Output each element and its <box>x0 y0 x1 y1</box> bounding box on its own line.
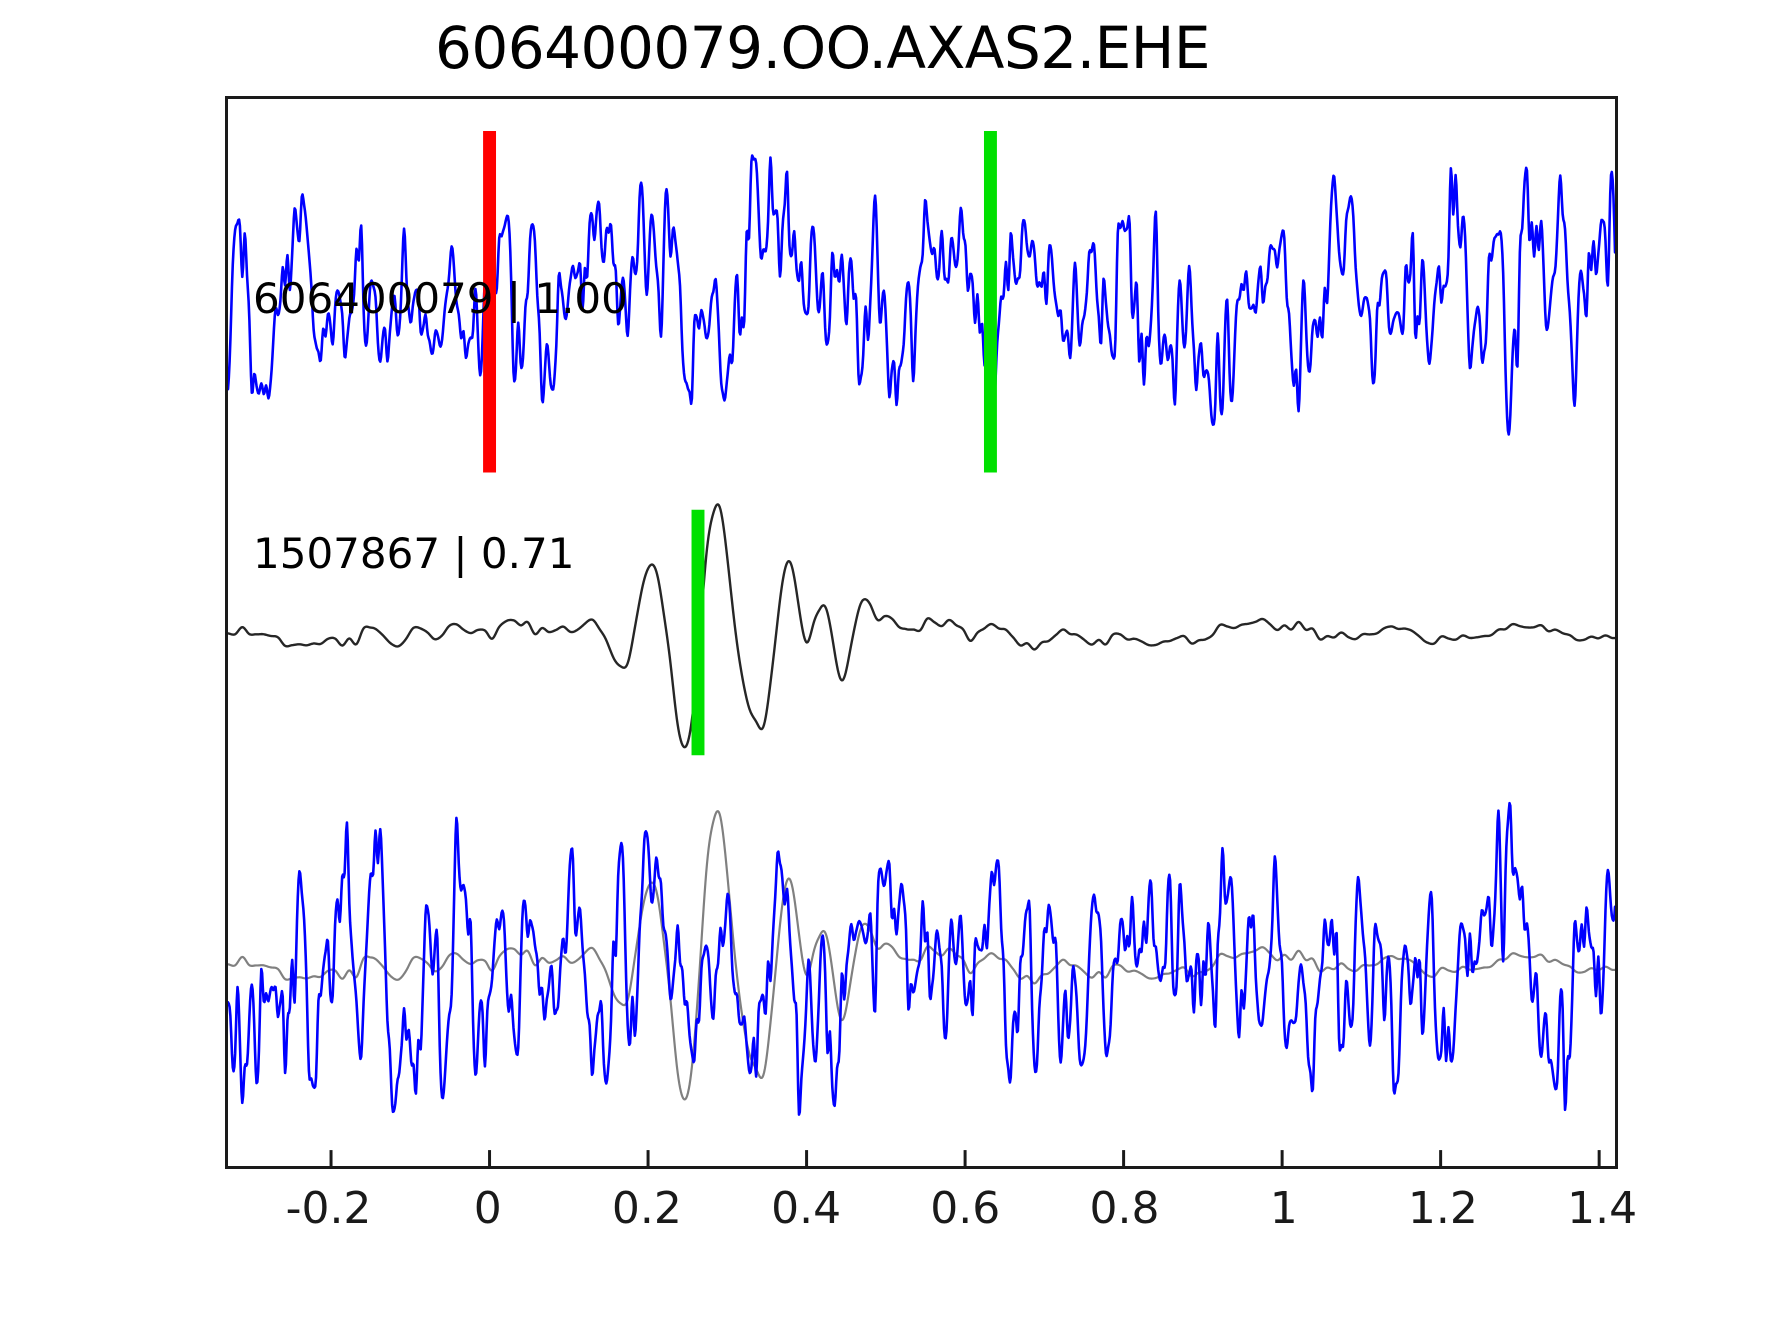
template-trace-label: 1507867 | 0.71 <box>253 529 574 578</box>
page-title: 606400079.OO.AXAS2.EHE <box>0 14 1645 82</box>
target-trace-label: 606400079 | 1.00 <box>253 274 628 323</box>
plot-area: 606400079 | 1.00 1507867 | 0.71 <box>225 96 1618 1169</box>
x-tick-label: -0.2 <box>286 1183 372 1234</box>
x-tick-label: 1.2 <box>1408 1183 1478 1234</box>
x-tick-label: 0.6 <box>930 1183 1000 1234</box>
x-axis-ticks <box>331 1150 1599 1166</box>
x-tick-label: 0.2 <box>612 1183 682 1234</box>
x-tick-label: 0.4 <box>771 1183 841 1234</box>
x-tick-label: 1.4 <box>1567 1183 1637 1234</box>
x-axis-tick-labels: -0.200.20.40.60.811.21.4 <box>225 1183 1618 1243</box>
x-tick-label: 1 <box>1270 1183 1298 1234</box>
plot-svg <box>228 99 1615 1166</box>
x-tick-label: 0.8 <box>1090 1183 1160 1234</box>
x-tick-label: 0 <box>474 1183 502 1234</box>
waveform-figure: 606400079.OO.AXAS2.EHE 606400079 | 1.00 … <box>0 0 1768 1326</box>
